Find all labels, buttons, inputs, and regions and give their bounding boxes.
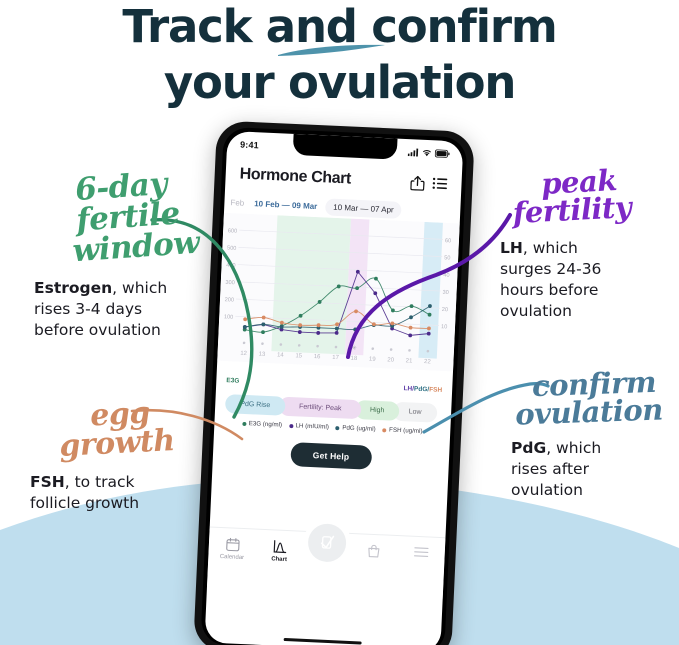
legend-item-e3g[interactable]: E3G (ng/ml) — [242, 420, 282, 429]
annotation-body-lh: LH, which surges 24-36 hours before ovul… — [500, 238, 664, 322]
svg-text:60: 60 — [445, 238, 452, 244]
svg-text:600: 600 — [228, 228, 238, 234]
script-fertile-3: window — [55, 226, 217, 267]
test-check-icon — [318, 533, 337, 552]
svg-text:20: 20 — [442, 307, 449, 313]
svg-text:13: 13 — [258, 352, 266, 358]
axis-captions: E3G LH/PdG/FSH — [216, 377, 452, 395]
annotation-bold-pdg: PdG — [511, 439, 546, 457]
legend-item-lh[interactable]: LH (mIU/ml) — [289, 422, 329, 431]
axis-label-lh: LH/ — [403, 385, 414, 392]
legend-item-fsh[interactable]: FSH (ug/ml) — [382, 426, 422, 435]
svg-text:12: 12 — [240, 351, 248, 357]
annotation-line-pdg-1: rises after — [511, 460, 589, 478]
legend-label-fsh: FSH (ug/ml) — [389, 427, 423, 436]
legend-item-pdg[interactable]: PdG (ug/ml) — [336, 424, 376, 433]
legend-label-e3g: E3G (ng/ml) — [249, 420, 283, 429]
nav-item-chart[interactable]: Chart — [258, 539, 301, 564]
svg-text:21: 21 — [406, 358, 414, 364]
annotation-bold-lh: LH — [500, 239, 523, 257]
headline-underline — [276, 42, 388, 58]
phone-screen: 9:41 — [204, 131, 463, 645]
nav-item-calendar[interactable]: Calendar — [211, 537, 254, 562]
legend-label-lh: LH (mIU/ml) — [295, 422, 329, 431]
pill-fertility-peak[interactable]: Fertility: Peak — [279, 396, 362, 419]
annotation-rest-lh: , which — [523, 239, 578, 257]
date-tab-next[interactable]: 10 Mar — 07 Apr — [325, 198, 402, 218]
svg-text:20: 20 — [387, 357, 395, 363]
annotation-line-lh-1: surges 24-36 — [500, 260, 601, 278]
legend-dot-e3g — [242, 421, 246, 425]
svg-text:16: 16 — [314, 354, 322, 360]
bag-icon — [367, 544, 382, 559]
annotation-bold-fsh: FSH — [30, 473, 65, 491]
annotation-line-lh-2: hours before — [500, 281, 598, 299]
annotation-confirm-ovulation: confirm ovulation PdG, which rises after… — [505, 370, 679, 501]
axis-label-fsh: FSH — [429, 386, 442, 394]
share-icon[interactable] — [409, 174, 426, 191]
chart-icon — [272, 539, 287, 554]
axis-label-right: LH/PdG/FSH — [403, 385, 442, 394]
svg-text:200: 200 — [225, 297, 235, 303]
legend-dot-lh — [289, 423, 293, 427]
annotation-fertile-window: 6-day fertile window Estrogen, which ris… — [26, 172, 216, 341]
axis-label-left: E3G — [226, 377, 239, 385]
pill-low[interactable]: Low — [393, 401, 438, 422]
annotation-rest-fsh: , to track — [65, 473, 135, 491]
legend-label-pdg: PdG (ug/ml) — [342, 424, 376, 433]
svg-text:300: 300 — [225, 280, 235, 286]
annotation-body-fsh: FSH, to track follicle growth — [30, 472, 218, 514]
svg-text:50: 50 — [444, 255, 451, 261]
svg-text:✳: ✳ — [352, 345, 357, 352]
annotation-line-fsh-1: follicle growth — [30, 494, 139, 512]
pill-high[interactable]: High — [355, 399, 400, 420]
annotation-bold-estrogen: Estrogen — [34, 279, 112, 297]
svg-text:30: 30 — [442, 290, 449, 296]
annotation-line-estrogen-2: before ovulation — [34, 321, 161, 339]
legend-dot-fsh — [383, 428, 387, 432]
headline-line-2: your ovulation — [0, 57, 679, 109]
date-tab-prev[interactable]: Feb — [228, 195, 246, 211]
nav-label-calendar: Calendar — [220, 554, 245, 561]
pill-pdg-rise[interactable]: PdG Rise — [225, 394, 286, 416]
get-help-button[interactable]: Get Help — [290, 442, 372, 470]
svg-text:500: 500 — [227, 245, 237, 251]
nav-item-menu[interactable] — [400, 545, 443, 559]
annotation-egg-growth: egg growth FSH, to track follicle growth — [22, 400, 218, 514]
status-time: 9:41 — [240, 139, 259, 150]
wifi-icon — [422, 149, 432, 157]
list-icon[interactable] — [431, 175, 448, 192]
svg-text:100: 100 — [224, 314, 234, 320]
hamburger-icon — [413, 546, 429, 559]
svg-text:14: 14 — [277, 352, 285, 358]
hormone-chart[interactable]: 1002003004005006001020304050601213141516… — [217, 213, 459, 372]
promo-graphic: Track and confirm your ovulation 9:41 — [0, 0, 679, 645]
svg-text:19: 19 — [369, 357, 377, 363]
status-pills: PdG Rise Fertility: Peak High Low — [225, 393, 442, 423]
svg-text:400: 400 — [226, 263, 236, 269]
annotation-line-pdg-2: ovulation — [511, 481, 583, 499]
legend-dot-pdg — [336, 426, 340, 430]
svg-text:17: 17 — [332, 355, 340, 361]
battery-icon — [435, 149, 450, 158]
annotation-rest-estrogen: , which — [112, 279, 167, 297]
annotation-line-estrogen-1: rises 3-4 days — [34, 300, 142, 318]
annotation-body-estrogen: Estrogen, which rises 3-4 days before ov… — [34, 278, 216, 341]
annotation-line-lh-3: ovulation — [500, 302, 572, 320]
home-indicator — [284, 638, 362, 645]
svg-text:22: 22 — [424, 359, 432, 365]
axis-label-pdg: PdG/ — [414, 386, 429, 394]
svg-text:15: 15 — [295, 353, 303, 359]
annotation-peak-fertility: peak fertility LH, which surges 24-36 ho… — [494, 168, 664, 322]
date-tab-current[interactable]: 10 Feb — 09 Mar — [246, 195, 326, 214]
script-confirm-2: ovulation — [495, 395, 679, 430]
nav-label-chart: Chart — [271, 556, 287, 563]
app-title: Hormone Chart — [239, 166, 404, 191]
svg-text:10: 10 — [441, 324, 448, 330]
nav-item-shop[interactable] — [353, 543, 396, 559]
annotation-body-pdg: PdG, which rises after ovulation — [511, 438, 679, 501]
svg-text:18: 18 — [350, 356, 358, 362]
signal-icon — [408, 148, 419, 156]
svg-text:40: 40 — [443, 273, 450, 279]
annotation-rest-pdg: , which — [546, 439, 601, 457]
calendar-icon — [225, 537, 240, 552]
